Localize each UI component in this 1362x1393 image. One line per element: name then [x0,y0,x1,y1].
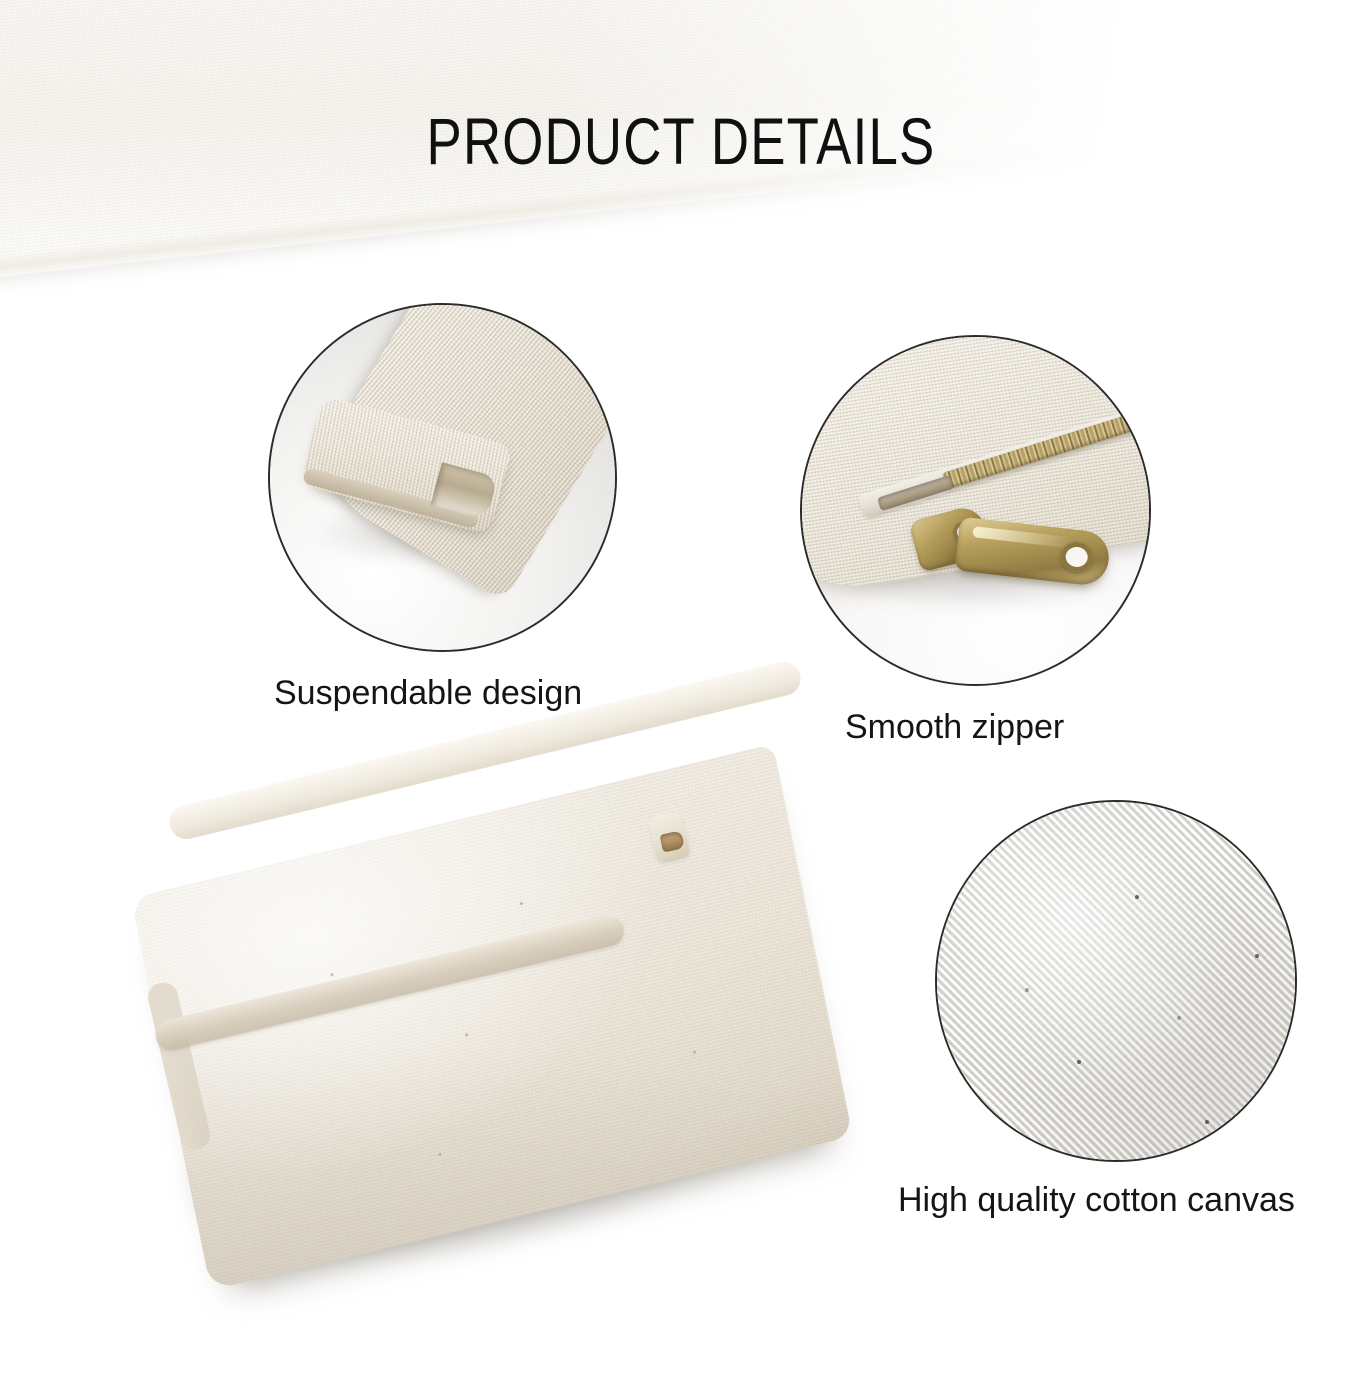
page-title: PRODUCT DETAILS [136,108,1226,174]
detail-circle-zipper [800,335,1151,686]
caption-smooth-zipper: Smooth zipper [845,707,1064,748]
cotton-weave-closeup-icon [937,802,1295,1160]
caption-high-quality-cotton-canvas: High quality cotton canvas [898,1180,1295,1221]
canvas-loop-closeup-icon [270,305,615,650]
product-image-canvas-pouch [140,795,870,1265]
detail-circle-loop [268,303,617,652]
detail-circle-canvas [935,800,1297,1162]
product-details-page: PRODUCT DETAILS Suspendable design [0,0,1362,1393]
brass-zipper-closeup-icon [802,337,1149,684]
caption-suspendable-design: Suspendable design [274,673,582,714]
